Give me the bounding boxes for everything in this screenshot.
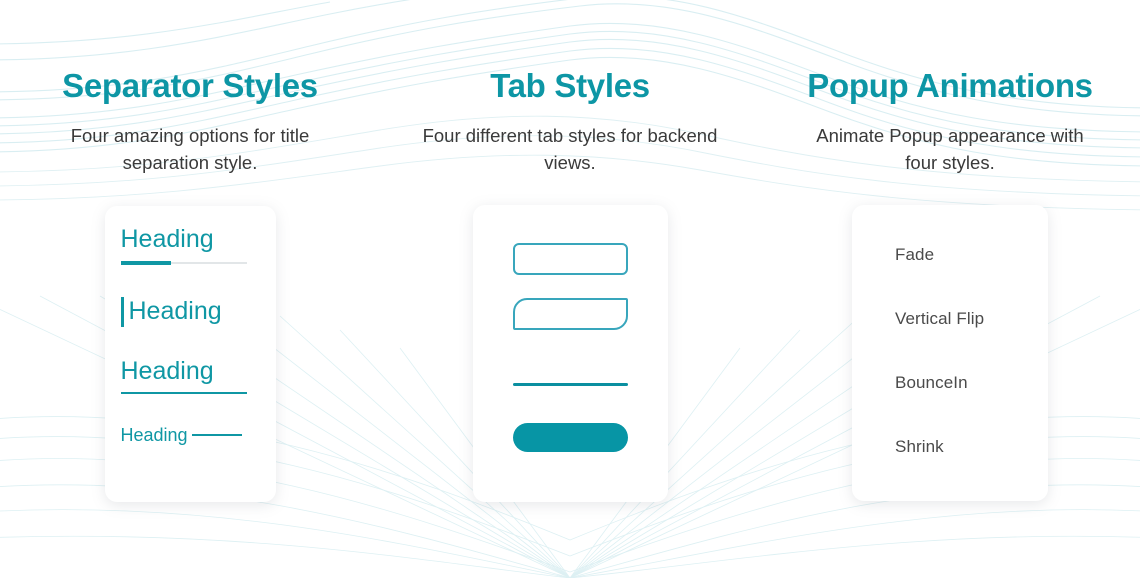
- subtitle-popup-animations: Animate Popup appearance with four style…: [800, 123, 1100, 177]
- separator-heading-label: Heading: [129, 299, 222, 324]
- list-item-fade[interactable]: Fade: [895, 246, 934, 263]
- subtitle-tab-styles: Four different tab styles for backend vi…: [420, 123, 720, 177]
- tab-style-rounded-outline[interactable]: [513, 243, 628, 275]
- separator-style-left-bar[interactable]: Heading: [121, 297, 247, 327]
- page-content: Separator Styles Four amazing options fo…: [0, 0, 1140, 578]
- separator-style-underline-dual[interactable]: Heading: [121, 227, 247, 265]
- card-separator-preview: Heading Heading Heading Heading: [105, 206, 276, 502]
- separator-rule-full: [121, 392, 247, 394]
- page-title-popup-animations: Popup Animations: [807, 68, 1092, 104]
- separator-vertical-bar: [121, 297, 124, 327]
- card-tab-preview: [473, 205, 668, 502]
- separator-rule-dual: [121, 261, 247, 265]
- card-popup-animation-list: Fade Vertical Flip BounceIn Shrink: [852, 205, 1048, 501]
- tab-style-underline-bar[interactable]: [513, 383, 628, 386]
- page-title-tab-styles: Tab Styles: [490, 68, 650, 104]
- separator-style-underline-full[interactable]: Heading: [121, 359, 247, 394]
- list-item-vertical-flip[interactable]: Vertical Flip: [895, 310, 984, 327]
- tab-style-angled-outline[interactable]: [513, 298, 628, 330]
- column-tab-styles: Tab Styles Four different tab styles for…: [380, 0, 760, 578]
- separator-heading-label: Heading: [121, 359, 247, 384]
- column-separator-styles: Separator Styles Four amazing options fo…: [0, 0, 380, 578]
- list-item-shrink[interactable]: Shrink: [895, 438, 944, 455]
- column-popup-animations: Popup Animations Animate Popup appearanc…: [760, 0, 1140, 578]
- separator-style-line-right[interactable]: Heading: [121, 426, 247, 444]
- separator-rule-accent: [121, 261, 171, 265]
- subtitle-separator-styles: Four amazing options for title separatio…: [40, 123, 340, 177]
- page-title-separator-styles: Separator Styles: [62, 68, 318, 104]
- separator-heading-label: Heading: [121, 426, 188, 444]
- tab-style-filled-pill[interactable]: [513, 423, 628, 452]
- list-item-bouncein[interactable]: BounceIn: [895, 374, 968, 391]
- separator-rule-side: [192, 434, 242, 436]
- separator-heading-label: Heading: [121, 227, 247, 252]
